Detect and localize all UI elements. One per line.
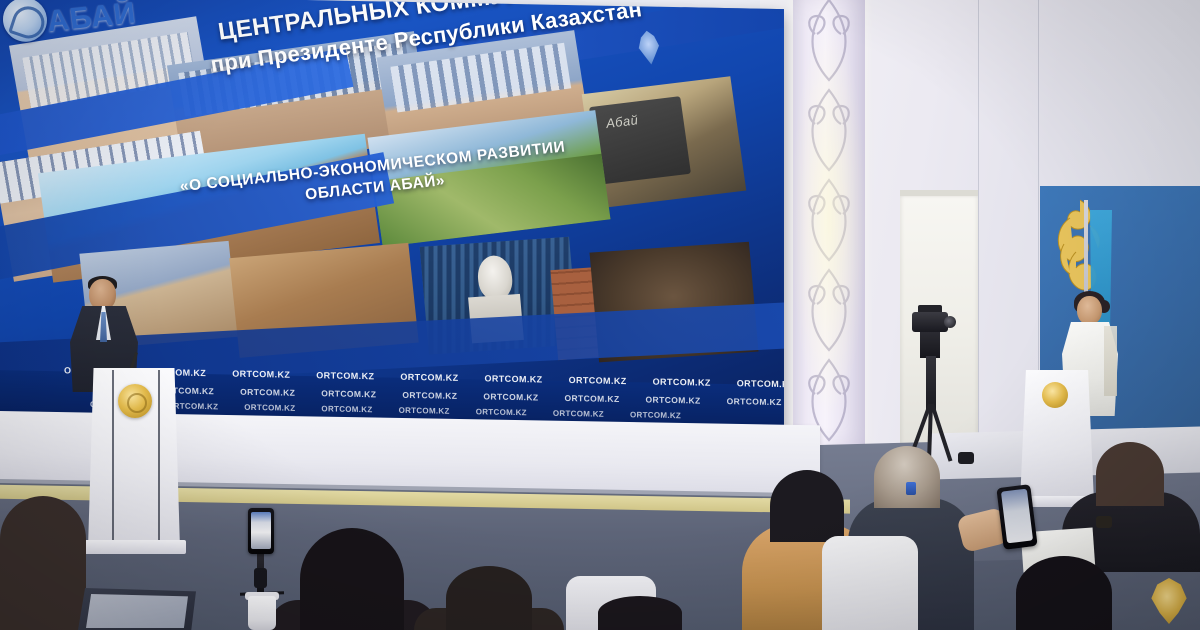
watermark-text: ORTCOM.KZ: [400, 372, 458, 383]
watermark-text: ORTCOM.KZ: [553, 409, 604, 419]
podium-seam: [112, 370, 114, 542]
watermark-text: ORTCOM.KZ: [321, 404, 372, 414]
watermark-text: ORTCOM.KZ: [653, 377, 711, 388]
audience-member-head: [446, 566, 532, 630]
watermark-text: ORTCOM.KZ: [727, 396, 782, 407]
watermark-text: ORTCOM.KZ: [244, 403, 295, 413]
phone-tripod-grip: [254, 568, 267, 588]
watermark-text: ORTCOM.KZ: [321, 388, 376, 399]
watermark-text: ORTCOM.KZ: [316, 370, 374, 381]
coffee-cup: [248, 596, 276, 630]
ornament-pattern-icon: [793, 0, 865, 446]
moderator-scarf: [1104, 326, 1117, 396]
watermark-text: ORTCOM.KZ: [399, 406, 450, 416]
watermark-text: ORTCOM.KZ: [484, 373, 542, 384]
watermark-text: ORTCOM.KZ: [737, 378, 784, 389]
watermark-text: ORTCOM.KZ: [240, 387, 295, 398]
tripod-dolly: [958, 452, 974, 464]
wristwatch: [1096, 516, 1112, 528]
watermark-text: ORTCOM.KZ: [483, 391, 538, 402]
watermark-text: ORTCOM.KZ: [476, 407, 527, 417]
watermark-text: ORTCOM.KZ: [630, 410, 681, 420]
audience-member-head: [1016, 556, 1112, 630]
laptop-screen: [86, 594, 188, 628]
audience-member-head: [0, 496, 86, 630]
podium-seam: [158, 370, 160, 542]
wall-seam: [978, 0, 979, 470]
camera-tripod-head: [920, 332, 940, 358]
audience-member-head: [598, 596, 682, 630]
audience-member-head: [1096, 442, 1164, 506]
screenshot-root: Абай ЦЕНТРАЛЬНЫХ КОММУНИКАЦИЙ при Презид…: [0, 0, 1200, 630]
watermark-text: ORTCOM.KZ: [646, 395, 701, 406]
audience-member-head: [874, 446, 940, 508]
audience-member-head: [770, 470, 844, 542]
audience-chair: [822, 536, 918, 630]
audience-member-head: [300, 528, 404, 630]
speaker-head: [89, 279, 116, 310]
camera-lens-icon: [944, 316, 956, 328]
podium-base: [82, 540, 186, 554]
broadcast-camera-icon: [912, 312, 948, 332]
right-wall-panel-text: [1112, 208, 1196, 218]
watermark-text: ORTCOM.KZ: [402, 390, 457, 401]
kazakhstan-state-emblem-icon: [118, 384, 152, 418]
watermark-text: ORTCOM.KZ: [564, 393, 619, 404]
photo-sign-plate: [589, 96, 691, 185]
press-badge: [906, 482, 916, 495]
watermark-text: ORTCOM.KZ: [569, 375, 627, 386]
watermark-text: ORTCOM.KZ: [232, 369, 290, 380]
smartphone-screen: [251, 512, 271, 549]
moderator-head: [1077, 296, 1102, 325]
kazakhstan-state-emblem-icon: [1042, 382, 1068, 408]
